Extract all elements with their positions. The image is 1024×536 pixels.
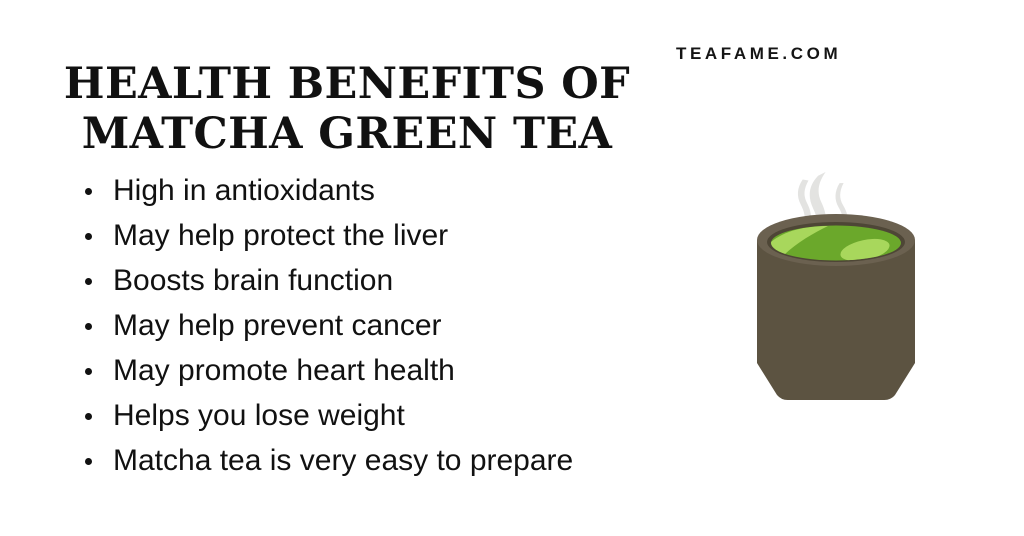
list-item-label: Matcha tea is very easy to prepare [113, 444, 573, 477]
list-item: May help prevent cancer [82, 303, 682, 348]
bullet-icon [85, 458, 92, 465]
infographic-canvas: HEALTH BENEFITS OF MATCHA GREEN TEA TEAF… [0, 0, 1024, 536]
list-item-label: May help protect the liver [113, 219, 448, 252]
list-item-label: May promote heart health [113, 354, 455, 387]
matcha-cup-svg [736, 160, 936, 432]
list-item: May help protect the liver [82, 213, 682, 258]
bullet-icon [85, 278, 92, 285]
brand-watermark: TEAFAME.COM [676, 44, 841, 64]
list-item: High in antioxidants [82, 168, 682, 213]
bullet-icon [85, 413, 92, 420]
page-title: HEALTH BENEFITS OF MATCHA GREEN TEA [56, 59, 638, 159]
bullet-icon [85, 368, 92, 375]
list-item: Matcha tea is very easy to prepare [82, 438, 682, 483]
list-item-label: High in antioxidants [113, 174, 375, 207]
bullet-icon [85, 233, 92, 240]
bullet-icon [85, 188, 92, 195]
matcha-cup-illustration [736, 160, 936, 432]
page-title-line-1: HEALTH BENEFITS OF [56, 59, 638, 109]
list-item: May promote heart health [82, 348, 682, 393]
page-title-line-2: MATCHA GREEN TEA [56, 109, 638, 159]
list-item: Helps you lose weight [82, 393, 682, 438]
list-item-label: Boosts brain function [113, 264, 393, 297]
list-item-label: Helps you lose weight [113, 399, 405, 432]
list-item-label: May help prevent cancer [113, 309, 442, 342]
bullet-icon [85, 323, 92, 330]
list-item: Boosts brain function [82, 258, 682, 303]
benefits-list: High in antioxidants May help protect th… [82, 168, 682, 483]
